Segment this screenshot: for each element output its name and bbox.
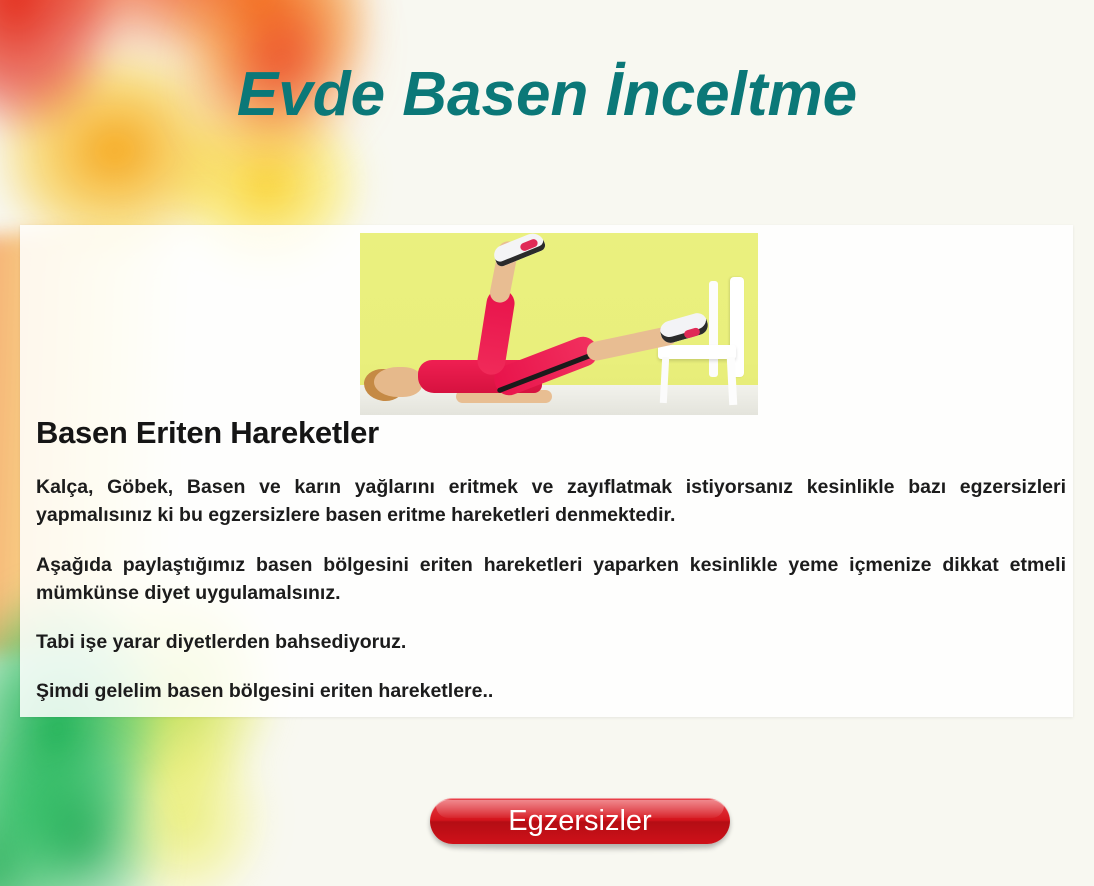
card-paragraph: Kalça, Göbek, Basen ve karın yağlarını e… xyxy=(36,473,1066,530)
model-raised-leg-shoe xyxy=(491,233,547,268)
egzersizler-button[interactable]: Egzersizler xyxy=(430,798,730,844)
card-paragraph: Şimdi gelelim basen bölgesini eriten har… xyxy=(36,677,1066,705)
model-extended-leg-shoe xyxy=(658,311,710,345)
cta-button-wrapper: Egzersizler xyxy=(430,798,736,848)
page-title: Evde Basen İnceltme xyxy=(0,62,1094,127)
card-paragraph: Aşağıda paylaştığımız basen bölgesini er… xyxy=(36,551,1066,608)
exercise-photo xyxy=(360,233,758,415)
cta-button-shadow xyxy=(450,845,716,851)
egzersizler-button-label: Egzersizler xyxy=(508,805,651,837)
card-paragraph: Tabi işe yarar diyetlerden bahsediyoruz. xyxy=(36,628,1066,656)
presentation-slide: Evde Basen İnceltme Basen Eriten Hareket… xyxy=(0,0,1094,886)
model-head xyxy=(374,367,422,397)
card-heading: Basen Eriten Hareketler xyxy=(36,415,379,451)
chair-backrest-side xyxy=(709,281,718,377)
chair-seat xyxy=(658,345,736,359)
card-body: Kalça, Göbek, Basen ve karın yağlarını e… xyxy=(36,473,1066,706)
content-card: Basen Eriten Hareketler Kalça, Göbek, Ba… xyxy=(20,225,1073,717)
